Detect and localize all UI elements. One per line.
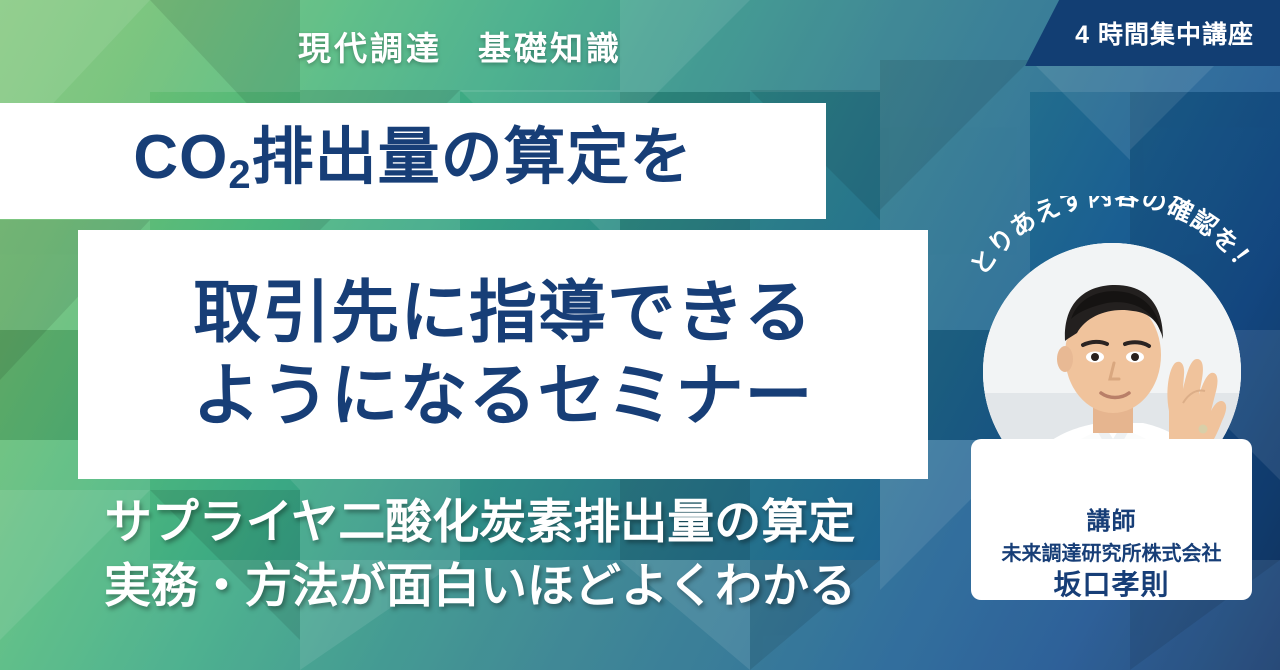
speaker-section: とりあえず内容の確認を！ [948, 0, 1280, 670]
subtitle-line-1: サプライヤ二酸化炭素排出量の算定 [105, 492, 856, 552]
eyebrow-text: 現代調達 基礎知識 [298, 22, 622, 70]
speaker-info-card: 講師 未来調達研究所株式会社 坂口孝則 [971, 439, 1252, 600]
title-box-primary: CO2排出量の算定を [0, 103, 826, 219]
seminar-banner: 現代調達 基礎知識 4 時間集中講座 CO2排出量の算定を 取引先に指導できる … [0, 0, 1280, 670]
title-line-1-suffix: 排出量の算定を [252, 123, 693, 192]
speaker-role-label: 講師 [1087, 507, 1137, 537]
title-line-3: ようになるセミナー [192, 358, 813, 434]
speaker-person-name: 坂口孝則 [1053, 567, 1169, 602]
speaker-company-name: 未来調達研究所株式会社 [1002, 541, 1222, 567]
title-line-2: 取引先に指導できる [193, 275, 813, 351]
title-box-secondary: 取引先に指導できる ようになるセミナー [78, 230, 928, 479]
title-line-1-prefix: CO [133, 123, 228, 192]
title-line-1: CO2排出量の算定を [133, 127, 692, 195]
subtitle-block: サプライヤ二酸化炭素排出量の算定 実務・方法が面白いほどよくわかる [0, 492, 960, 616]
title-line-1-subscript: 2 [228, 153, 251, 197]
subtitle-line-2: 実務・方法が面白いほどよくわかる [104, 556, 856, 616]
